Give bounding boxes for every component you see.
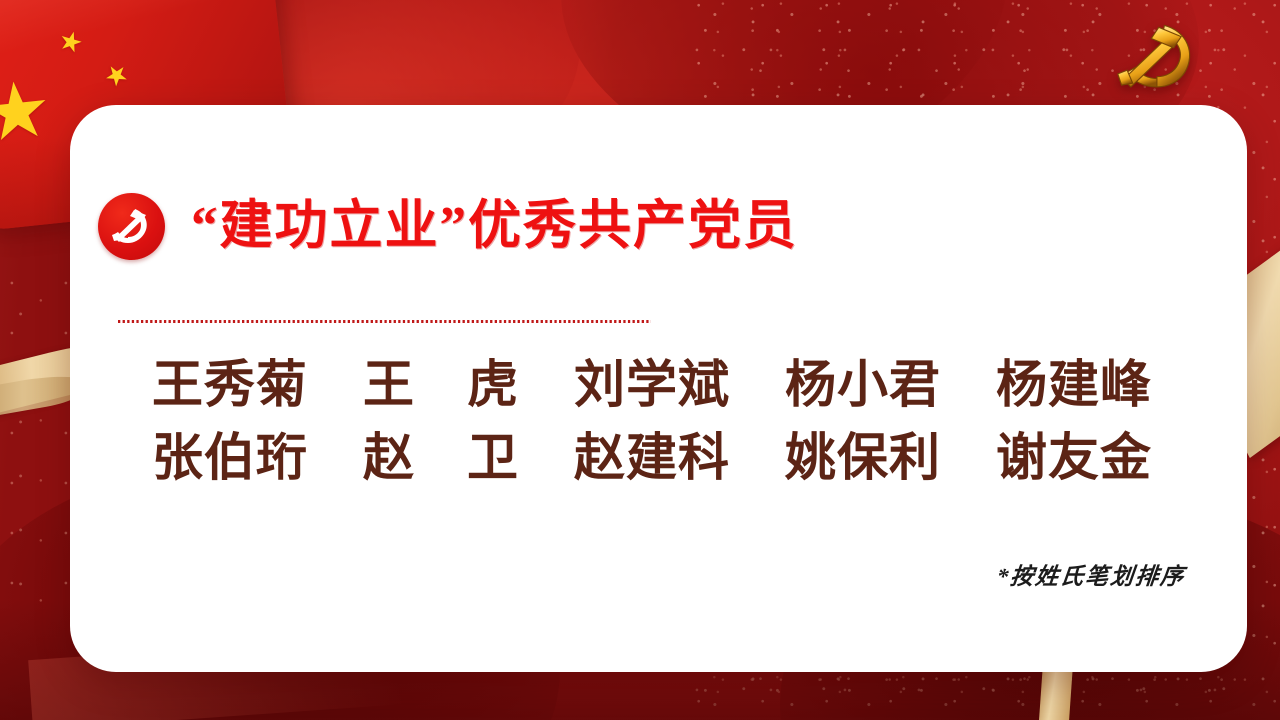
honoree-name: 刘学斌 xyxy=(574,355,730,418)
honoree-name: 王 虎 xyxy=(363,355,519,418)
honoree-name: 张伯珩 xyxy=(152,428,308,491)
honoree-name: 杨建峰 xyxy=(996,355,1152,418)
name-row: 王秀菊 王 虎 刘学斌 杨小君 杨建峰 xyxy=(122,355,1182,418)
honoree-name: 赵 卫 xyxy=(363,428,519,491)
gold-hammer-sickle-emblem xyxy=(1104,18,1208,100)
dotted-divider xyxy=(118,320,651,323)
party-emblem-hammer-sickle-icon xyxy=(98,193,165,260)
honoree-name: 姚保利 xyxy=(785,428,941,491)
honoree-name: 王秀菊 xyxy=(152,355,308,418)
honoree-name-list: 王秀菊 王 虎 刘学斌 杨小君 杨建峰 张伯珩 赵 卫 赵建科 姚保利 谢友金 xyxy=(122,355,1182,501)
name-row: 张伯珩 赵 卫 赵建科 姚保利 谢友金 xyxy=(122,428,1182,491)
flag-star-large: ★ xyxy=(0,69,55,154)
honoree-name: 谢友金 xyxy=(996,428,1152,491)
slide-root: ★ ★ ★ ★ ★ xyxy=(0,0,1280,720)
honoree-name: 赵建科 xyxy=(574,428,730,491)
page-title: “建功立业”优秀共产党员 xyxy=(191,200,798,253)
honoree-name: 杨小君 xyxy=(785,355,941,418)
title-row: “建功立业”优秀共产党员 xyxy=(98,193,798,260)
sorting-footnote: *按姓氏笔划排序 xyxy=(995,557,1187,591)
content-card: “建功立业”优秀共产党员 王秀菊 王 虎 刘学斌 杨小君 杨建峰 张伯珩 赵 卫… xyxy=(70,105,1247,672)
